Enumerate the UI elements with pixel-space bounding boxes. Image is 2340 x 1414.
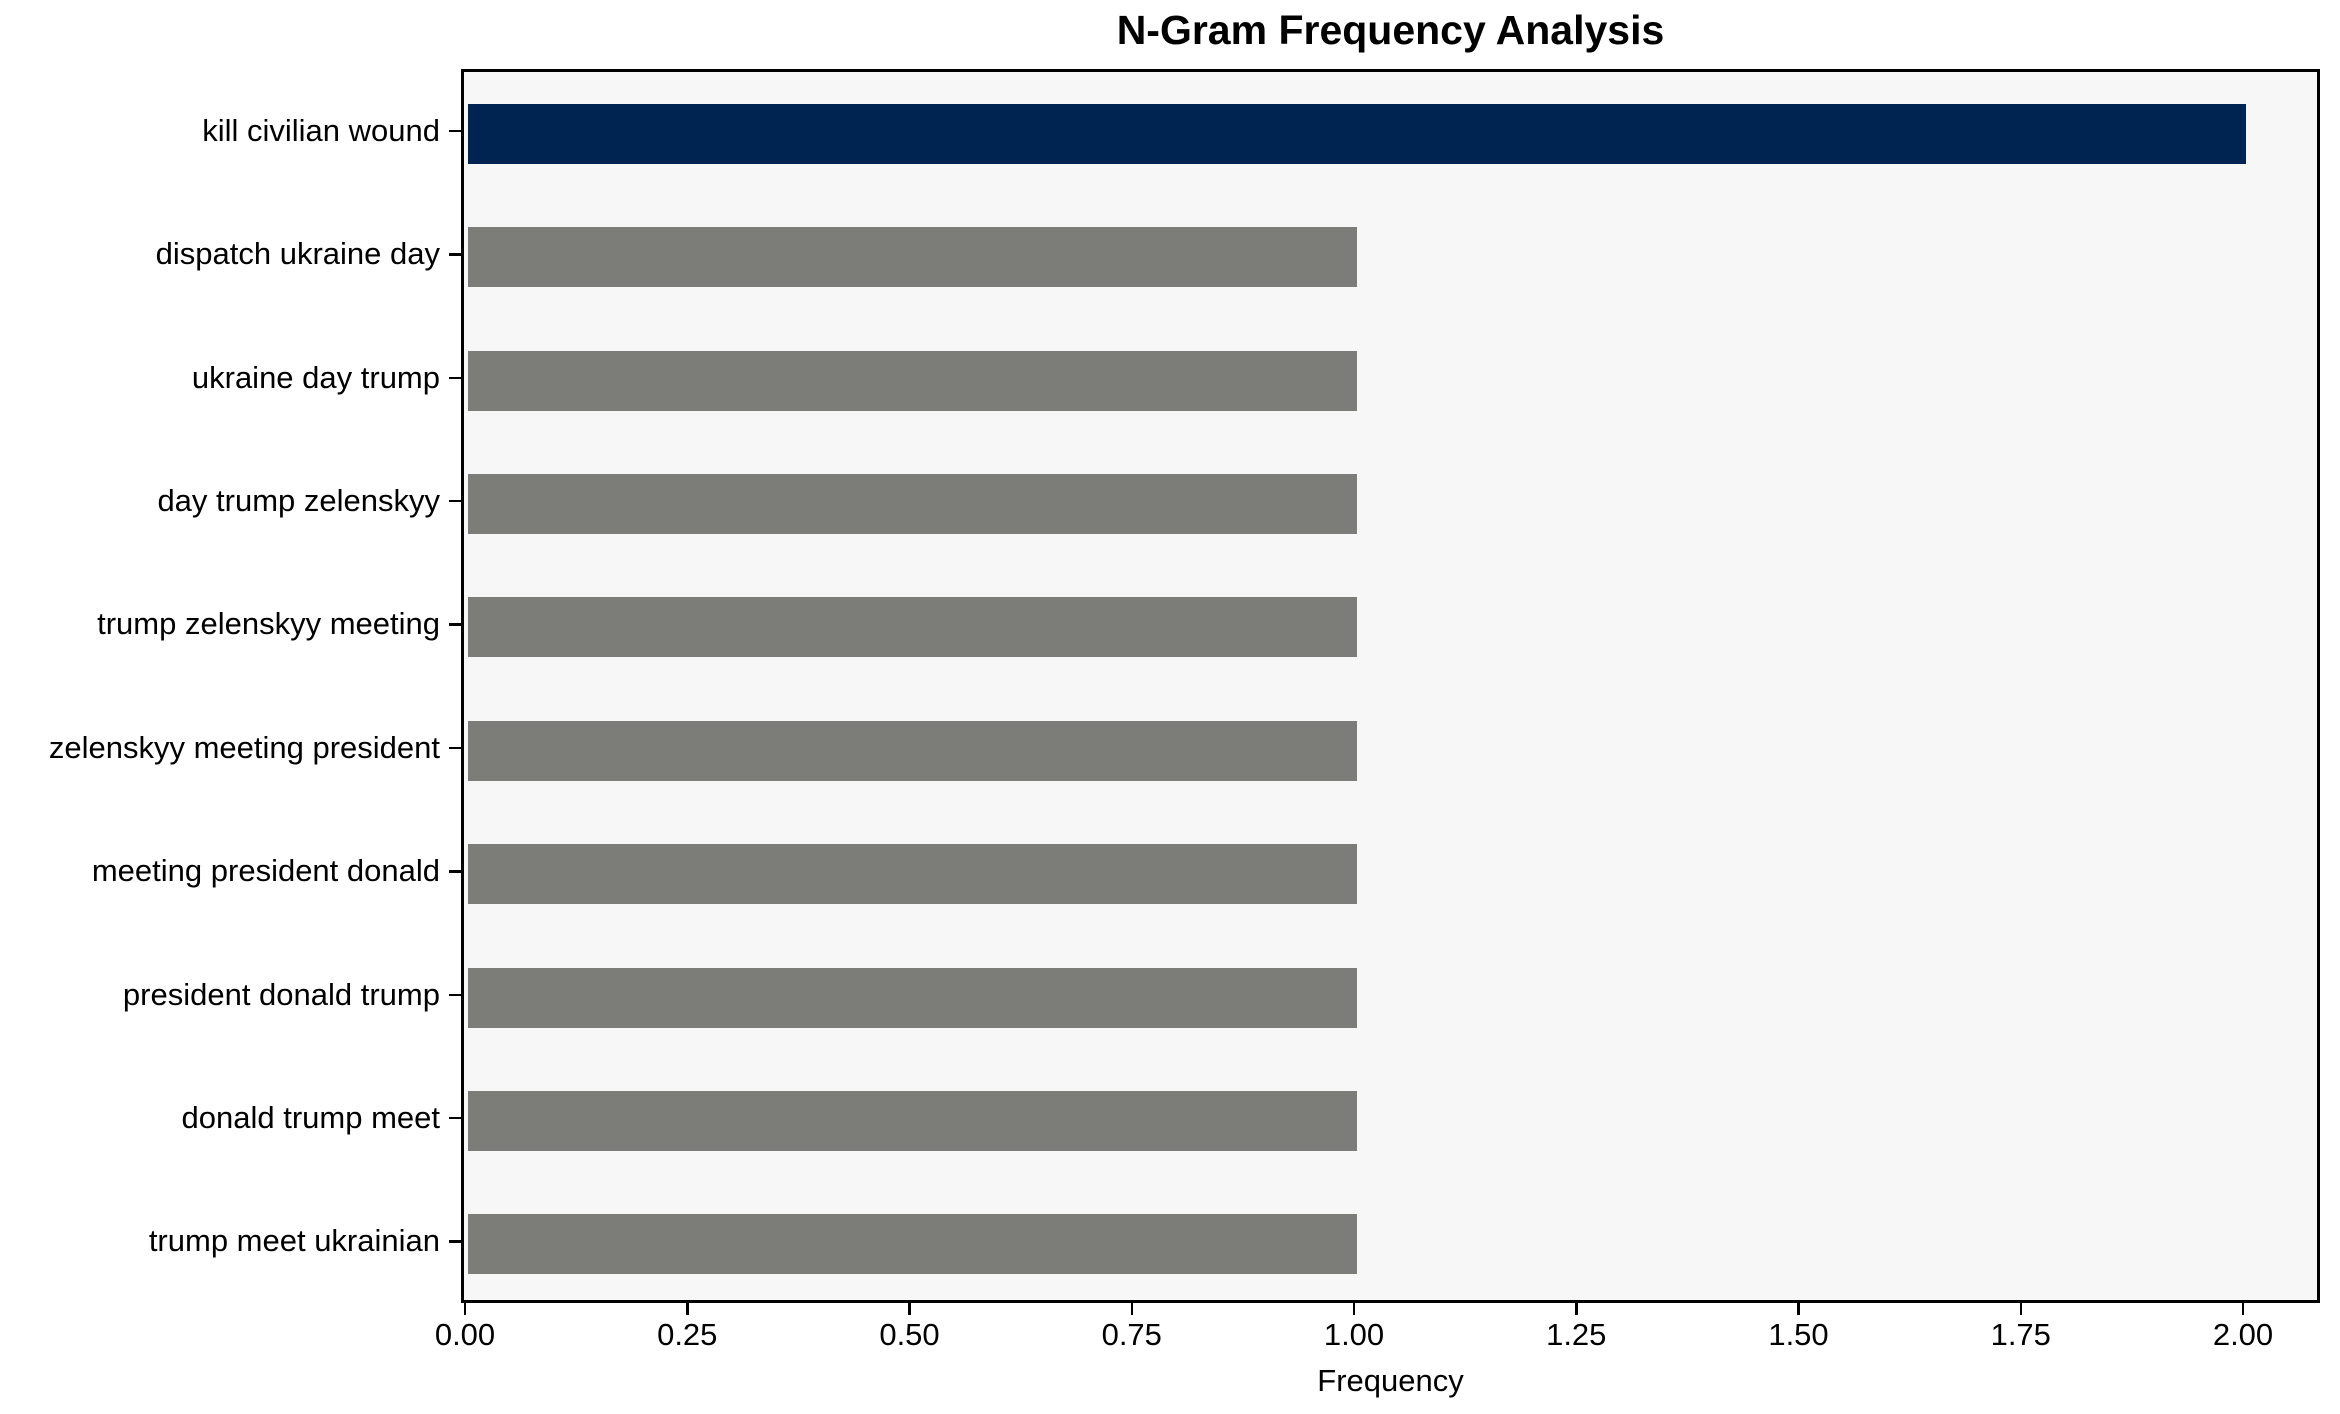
y-axis-tick-mark [449, 377, 461, 380]
y-axis-tick-mark [449, 253, 461, 256]
y-axis-tick-label: president donald trump [123, 975, 440, 1015]
bar [468, 474, 1357, 534]
y-axis-tick-label: trump zelenskyy meeting [97, 604, 440, 644]
y-axis-tick-mark [449, 747, 461, 750]
y-axis-tick-label: trump meet ukrainian [149, 1221, 440, 1261]
y-axis-tick-label: donald trump meet [182, 1098, 440, 1138]
y-axis-tick-mark [449, 623, 461, 626]
plot-area [461, 69, 2320, 1303]
y-axis-tick-mark [449, 1240, 461, 1243]
bar [468, 844, 1357, 904]
chart-title: N-Gram Frequency Analysis [461, 4, 2320, 56]
bar [468, 1091, 1357, 1151]
x-axis-tick-mark [1353, 1303, 1356, 1315]
x-axis-tick-mark [1797, 1303, 1800, 1315]
bar [468, 721, 1357, 781]
bar [468, 351, 1357, 411]
y-axis-tick-mark [449, 870, 461, 873]
y-axis-tick-label: kill civilian wound [202, 111, 440, 151]
x-axis-tick-mark [1131, 1303, 1134, 1315]
bars-layer [464, 72, 2317, 1300]
x-axis-tick-label: 0.00 [385, 1317, 545, 1353]
x-axis-tick-label: 1.00 [1274, 1317, 1434, 1353]
bar [468, 227, 1357, 287]
x-axis-tick-mark [908, 1303, 911, 1315]
y-axis-tick-mark [449, 994, 461, 997]
y-axis-tick-label: dispatch ukraine day [156, 234, 440, 274]
x-axis-tick-label: 0.50 [830, 1317, 990, 1353]
y-axis-tick-label: ukraine day trump [192, 358, 440, 398]
y-axis-tick-mark [449, 500, 461, 503]
x-axis-title: Frequency [461, 1363, 2320, 1399]
y-axis-tick-mark [449, 130, 461, 133]
chart-figure: N-Gram Frequency Analysis kill civilian … [0, 0, 2340, 1414]
x-axis-tick-label: 0.25 [607, 1317, 767, 1353]
bar [468, 1214, 1357, 1274]
x-axis-tick-mark [464, 1303, 467, 1315]
y-axis-tick-label: day trump zelenskyy [157, 481, 440, 521]
x-axis-tick-label: 2.00 [2163, 1317, 2323, 1353]
bar [468, 104, 2246, 164]
x-axis-tick-label: 1.75 [1941, 1317, 2101, 1353]
x-axis-tick-mark [2242, 1303, 2245, 1315]
x-axis-tick-mark [686, 1303, 689, 1315]
x-axis-tick-mark [1575, 1303, 1578, 1315]
y-axis-tick-label: meeting president donald [92, 851, 440, 891]
y-axis-tick-labels: kill civilian wounddispatch ukraine dayu… [0, 69, 461, 1303]
x-axis-tick-mark [2020, 1303, 2023, 1315]
x-axis-tick-label: 0.75 [1052, 1317, 1212, 1353]
bar [468, 597, 1357, 657]
bar [468, 968, 1357, 1028]
y-axis-tick-label: zelenskyy meeting president [49, 728, 440, 768]
x-axis-tick-label: 1.25 [1496, 1317, 1656, 1353]
y-axis-tick-mark [449, 1117, 461, 1120]
x-axis-tick-label: 1.50 [1719, 1317, 1879, 1353]
